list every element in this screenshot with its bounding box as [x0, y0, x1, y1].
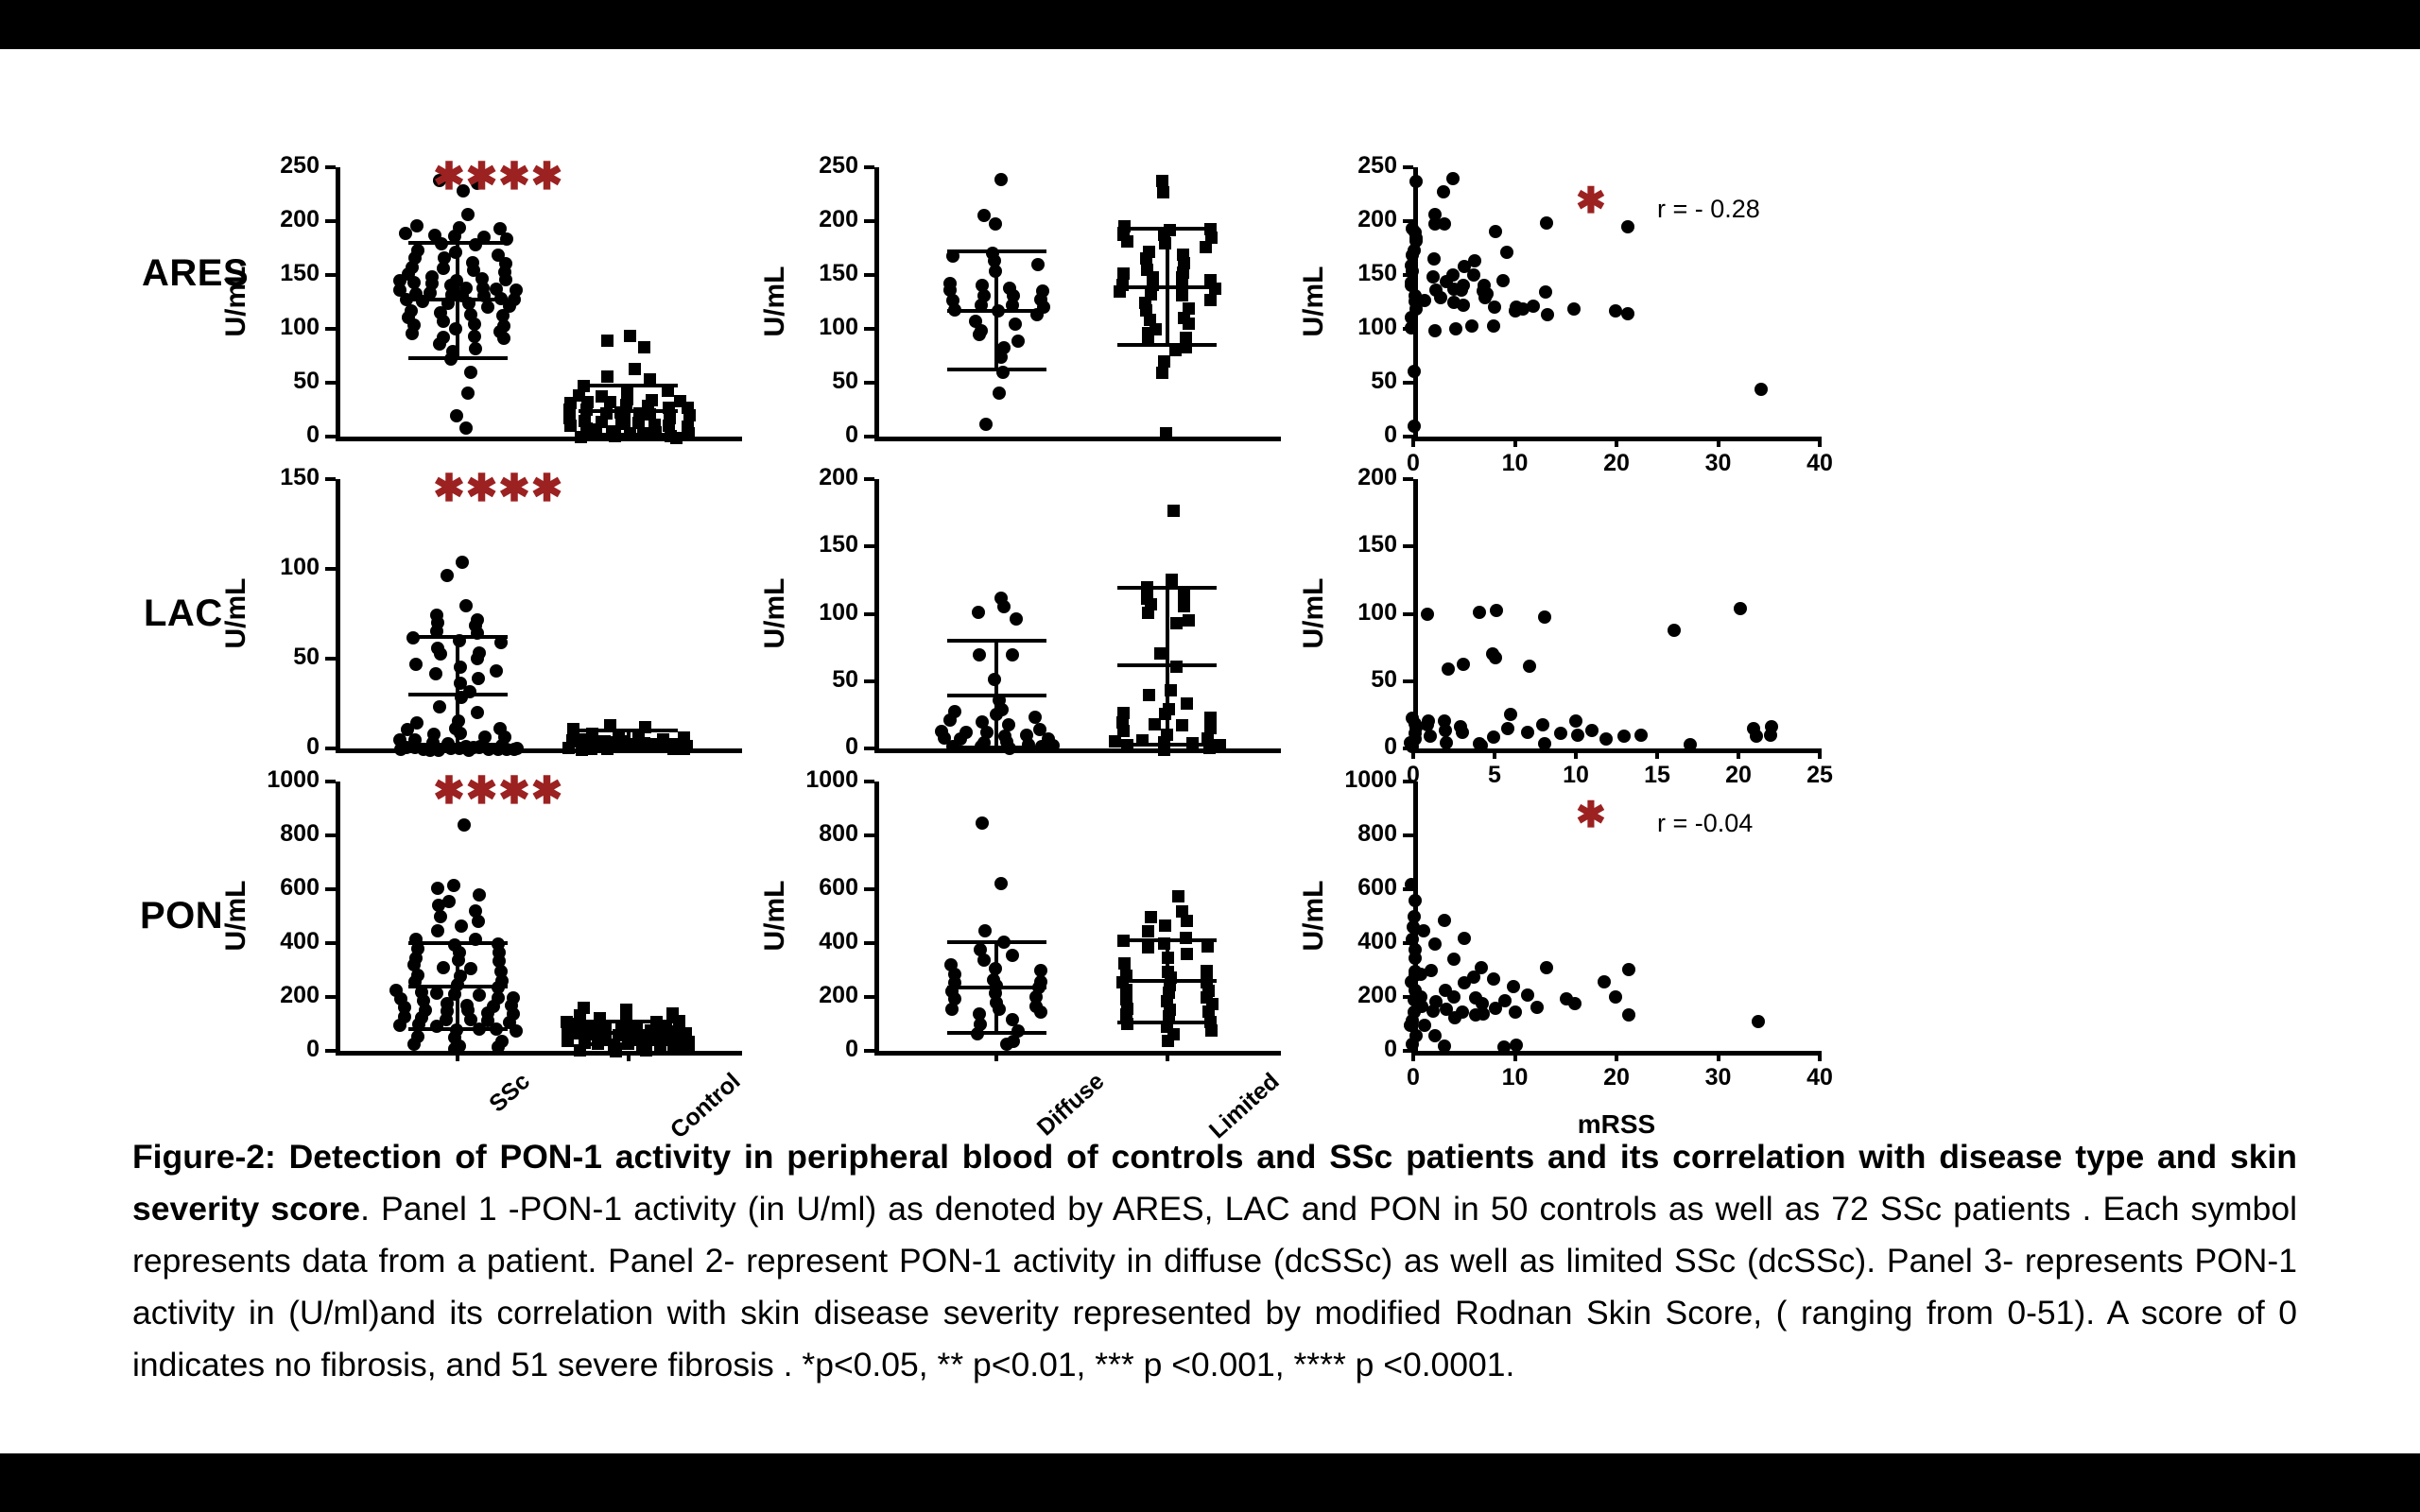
y-tick: [864, 327, 874, 331]
y-tick-label: 200: [775, 466, 858, 490]
panel-ares-ssc-control: 050100150200250U/mL✱✱✱✱: [336, 167, 742, 437]
data-point: [1634, 729, 1648, 742]
data-point: [464, 962, 477, 975]
y-tick-label: 0: [1314, 735, 1397, 759]
data-point: [629, 363, 641, 375]
y-tick-label: 200: [1314, 466, 1397, 490]
panel-ares-mrss: 050100150200250U/mL010203040r = - 0.28✱: [1413, 167, 1820, 437]
x-tick-label: 20: [1579, 1066, 1654, 1090]
y-tick-label: 0: [775, 735, 858, 759]
data-point: [410, 219, 423, 232]
y-axis-title: U/mL: [220, 235, 252, 368]
y-tick: [1403, 833, 1413, 837]
data-point: [1489, 651, 1502, 664]
data-point: [510, 1024, 523, 1038]
data-point: [1449, 322, 1462, 335]
figure-caption: Figure-2: Detection of PON-1 activity in…: [132, 1131, 2297, 1391]
y-tick-label: 0: [236, 735, 320, 759]
data-point: [1428, 1029, 1442, 1042]
data-point: [431, 882, 444, 895]
data-point: [601, 370, 614, 383]
data-point: [1440, 736, 1453, 749]
data-point: [459, 421, 473, 435]
sd-vertical-line: [994, 641, 998, 747]
data-point: [1475, 961, 1488, 974]
row-label-lac: LAC: [144, 593, 223, 635]
x-axis-line: [874, 1051, 1281, 1056]
row-label-pon: PON: [140, 895, 223, 937]
data-point: [973, 648, 986, 661]
y-tick: [864, 544, 874, 548]
data-point: [407, 1038, 421, 1051]
x-tick-label: 30: [1681, 452, 1756, 475]
y-tick: [325, 657, 336, 661]
data-point: [1000, 1038, 1013, 1051]
data-point: [1621, 220, 1634, 233]
data-point: [1426, 270, 1440, 283]
x-category-label: SSc: [484, 1068, 536, 1118]
y-axis-line: [1413, 479, 1418, 751]
x-tick-label: 0: [1375, 1066, 1451, 1090]
data-point: [1428, 937, 1442, 951]
data-point: [1609, 304, 1622, 318]
data-point: [1418, 1019, 1431, 1032]
data-point: [1490, 604, 1503, 617]
data-point: [1523, 660, 1536, 673]
y-axis-line: [874, 167, 879, 439]
y-tick-label: 150: [236, 466, 320, 490]
data-point: [1142, 607, 1154, 619]
data-point: [464, 366, 477, 379]
x-tick: [1513, 1051, 1517, 1061]
sd-vertical-line: [994, 251, 998, 369]
y-tick: [325, 780, 336, 783]
panel-pon-mrss: 02004006008001000U/mL010203040mRSSr = -0…: [1413, 782, 1820, 1051]
y-tick-label: 0: [775, 423, 858, 447]
y-tick: [864, 941, 874, 945]
significance-marker-four: ✱✱✱✱: [433, 470, 563, 507]
data-point: [1031, 258, 1045, 271]
data-point: [1183, 318, 1195, 330]
x-tick: [1717, 1051, 1720, 1061]
data-point: [1668, 624, 1681, 637]
y-tick-label: 250: [1314, 154, 1397, 178]
data-point: [1409, 894, 1422, 907]
data-point: [393, 1019, 406, 1032]
data-point: [1426, 1005, 1440, 1018]
x-category-tick: [627, 1051, 631, 1061]
data-point: [1500, 246, 1513, 259]
data-point: [976, 816, 989, 830]
y-tick-label: 200: [775, 984, 858, 1007]
data-point: [1465, 319, 1478, 333]
y-tick: [864, 435, 874, 438]
data-point: [1504, 708, 1517, 721]
data-point: [461, 387, 475, 400]
y-axis-title: U/mL: [1298, 547, 1330, 679]
data-point: [1011, 335, 1025, 348]
data-point: [1438, 914, 1451, 927]
data-point: [1424, 730, 1437, 743]
data-point: [683, 427, 695, 439]
data-point: [1468, 254, 1481, 267]
y-axis-line: [874, 479, 879, 751]
figure-page: ARES LAC PON 050100150200250U/mL✱✱✱✱0501…: [0, 0, 2420, 1512]
data-point: [1406, 265, 1419, 278]
y-tick-label: 50: [236, 369, 320, 393]
panel-pon-ssc-control: 02004006008001000U/mLSScControl✱✱✱✱: [336, 782, 742, 1051]
x-tick-label: 20: [1579, 452, 1654, 475]
data-point: [1477, 1007, 1490, 1021]
data-point: [993, 387, 1006, 400]
x-axis-line: [874, 437, 1281, 441]
data-point: [1121, 235, 1133, 248]
data-point: [1117, 267, 1130, 280]
panel-lac-mrss: 050100150200U/mL0510152025: [1413, 479, 1820, 748]
data-point: [458, 818, 471, 832]
data-point: [1406, 1038, 1419, 1051]
data-point: [1473, 737, 1486, 750]
y-tick: [1403, 477, 1413, 481]
data-point: [1521, 988, 1534, 1002]
data-point: [562, 742, 575, 754]
x-tick: [1737, 748, 1740, 759]
data-point: [434, 910, 447, 923]
y-tick-label: 0: [1314, 1038, 1397, 1061]
data-point: [683, 1041, 695, 1054]
data-point: [1567, 302, 1581, 316]
data-point: [1527, 300, 1540, 313]
x-tick: [1818, 748, 1822, 759]
data-point: [1178, 600, 1190, 612]
data-point: [1204, 294, 1217, 306]
significance-marker-four: ✱✱✱✱: [433, 772, 563, 810]
data-point: [1118, 957, 1131, 970]
data-point: [1734, 602, 1747, 615]
data-point: [1510, 1039, 1523, 1052]
panel-ares-diffuse-limited: 050100150200250U/mL: [874, 167, 1281, 437]
data-point: [1754, 383, 1768, 396]
data-point: [1496, 274, 1510, 287]
y-tick: [864, 273, 874, 277]
caption-rest: . Panel 1 -PON-1 activity (in U/ml) as d…: [132, 1190, 2297, 1383]
data-point: [610, 1045, 622, 1057]
y-tick-label: 200: [236, 984, 320, 1007]
data-point: [624, 330, 636, 342]
letterbox-bottom: [0, 1453, 2420, 1512]
y-axis-title: U/mL: [759, 547, 791, 679]
y-tick-label: 800: [1314, 822, 1397, 846]
data-point: [1145, 911, 1157, 923]
data-point: [1750, 730, 1763, 743]
data-point: [1181, 915, 1193, 927]
y-tick: [325, 995, 336, 999]
data-point: [1507, 980, 1520, 993]
data-point: [1473, 606, 1486, 619]
y-tick: [325, 567, 336, 571]
y-axis-title: U/mL: [1298, 850, 1330, 982]
x-tick: [1513, 437, 1517, 447]
data-point: [1409, 175, 1423, 188]
data-point: [1538, 737, 1551, 750]
x-tick: [1574, 748, 1578, 759]
y-tick: [325, 833, 336, 837]
y-tick: [325, 381, 336, 385]
data-point: [1162, 1035, 1174, 1047]
y-tick: [1403, 544, 1413, 548]
panel-lac-diffuse-limited: 050100150200U/mL: [874, 479, 1281, 748]
data-point: [989, 217, 1002, 231]
x-category-tick: [456, 1051, 459, 1061]
data-point: [497, 332, 510, 345]
data-point: [1140, 252, 1152, 265]
y-tick-label: 200: [1314, 208, 1397, 232]
data-point: [431, 924, 444, 937]
x-tick: [1818, 437, 1822, 447]
panel-lac-ssc-control: 050100150U/mL✱✱✱✱: [336, 479, 742, 748]
data-point: [459, 599, 473, 612]
y-tick: [1403, 165, 1413, 169]
y-tick: [325, 273, 336, 277]
data-point: [1142, 941, 1154, 954]
x-tick-label: 40: [1782, 452, 1858, 475]
y-tick: [1403, 780, 1413, 783]
data-point: [473, 888, 486, 902]
data-point: [456, 556, 469, 569]
data-point: [678, 743, 690, 755]
data-point: [447, 879, 460, 892]
data-point: [468, 330, 481, 343]
data-point: [1622, 963, 1635, 976]
data-point: [1554, 727, 1567, 740]
data-point: [1181, 697, 1193, 710]
data-point: [1752, 1015, 1765, 1028]
data-point: [979, 418, 993, 431]
data-point: [469, 342, 482, 355]
data-point: [1142, 925, 1154, 937]
data-point: [1156, 175, 1168, 187]
y-tick-label: 250: [236, 154, 320, 178]
y-tick-label: 0: [1314, 423, 1397, 447]
data-point: [1536, 718, 1549, 731]
data-point: [1498, 994, 1512, 1007]
sd-vertical-line: [994, 942, 998, 1034]
data-point: [1501, 722, 1514, 735]
y-tick: [864, 833, 874, 837]
y-tick: [325, 941, 336, 945]
x-tick-label: 40: [1782, 1066, 1858, 1090]
data-point: [620, 1004, 632, 1016]
y-axis-title: U/mL: [759, 850, 791, 982]
data-point: [562, 1035, 574, 1047]
data-point: [1540, 216, 1553, 230]
data-point: [461, 208, 475, 221]
data-point: [471, 652, 484, 665]
data-point: [1438, 217, 1451, 231]
data-point: [1622, 1008, 1635, 1022]
sd-vertical-line: [627, 730, 631, 747]
y-tick: [325, 327, 336, 331]
data-point: [430, 987, 443, 1000]
y-tick: [1403, 679, 1413, 683]
x-category-tick: [994, 1051, 998, 1061]
data-point: [1181, 948, 1193, 960]
data-point: [1521, 726, 1534, 739]
data-point: [450, 409, 463, 422]
data-point: [1149, 718, 1161, 730]
data-point: [1617, 730, 1631, 743]
data-point: [1571, 729, 1584, 742]
data-point: [1418, 294, 1431, 307]
data-point: [1540, 961, 1553, 974]
data-point: [1599, 732, 1613, 746]
data-point: [437, 262, 450, 275]
data-point: [1010, 612, 1023, 626]
x-tick: [1411, 437, 1415, 447]
data-point: [1006, 949, 1019, 962]
data-point: [638, 341, 650, 353]
significance-marker-four: ✱✱✱✱: [433, 158, 563, 196]
y-tick: [864, 747, 874, 750]
data-point: [399, 227, 412, 240]
data-point: [1530, 1001, 1544, 1014]
data-point: [1455, 283, 1468, 297]
y-tick: [325, 477, 336, 481]
data-point: [1538, 610, 1551, 624]
data-point: [1046, 739, 1060, 752]
y-axis-title: U/mL: [759, 235, 791, 368]
data-point: [1159, 919, 1171, 932]
data-point: [472, 672, 485, 685]
data-point: [1158, 355, 1170, 368]
data-point: [492, 1040, 505, 1054]
y-tick: [864, 477, 874, 481]
y-tick-label: 0: [775, 1038, 858, 1061]
y-tick: [864, 1049, 874, 1053]
x-tick: [1818, 1051, 1822, 1061]
data-point: [1143, 689, 1155, 701]
y-tick-label: 800: [236, 822, 320, 846]
data-point: [945, 1003, 959, 1016]
data-point: [564, 420, 577, 432]
y-tick-label: 1000: [775, 768, 858, 792]
data-point: [433, 700, 446, 713]
data-point: [1509, 1005, 1522, 1019]
data-point: [943, 713, 957, 727]
data-point: [1487, 972, 1500, 986]
data-point: [1458, 932, 1471, 945]
y-axis-title: U/mL: [220, 850, 252, 982]
correlation-value: r = - 0.28: [1657, 195, 1760, 224]
significance-marker-one: ✱: [1576, 797, 1607, 834]
x-category-tick: [1166, 1051, 1169, 1061]
data-point: [978, 924, 992, 937]
y-tick: [864, 165, 874, 169]
y-tick: [864, 612, 874, 616]
significance-marker-one: ✱: [1576, 182, 1607, 220]
y-tick-label: 0: [236, 423, 320, 447]
x-tick: [1655, 748, 1659, 759]
y-tick-label: 250: [775, 154, 858, 178]
y-tick: [325, 435, 336, 438]
data-point: [1456, 1005, 1469, 1019]
data-point: [1028, 711, 1042, 724]
y-tick: [325, 747, 336, 750]
y-tick: [325, 219, 336, 223]
x-tick: [1493, 748, 1496, 759]
sd-vertical-line: [1166, 940, 1169, 1022]
y-axis-line: [336, 479, 340, 751]
data-point: [1421, 608, 1434, 621]
data-point: [1439, 724, 1452, 737]
data-point: [473, 988, 486, 1002]
data-point: [973, 328, 986, 341]
data-point: [1156, 367, 1168, 379]
data-point: [1417, 924, 1430, 937]
data-point: [1764, 729, 1777, 742]
figure-sheet: ARES LAC PON 050100150200250U/mL✱✱✱✱0501…: [0, 49, 2420, 1453]
data-point: [429, 667, 442, 680]
data-point: [1488, 301, 1501, 314]
data-point: [997, 600, 1011, 613]
y-tick: [864, 780, 874, 783]
data-point: [1170, 617, 1183, 629]
y-axis-title: U/mL: [1298, 235, 1330, 368]
y-tick-label: 50: [1314, 369, 1397, 393]
data-point: [1447, 953, 1461, 966]
data-point: [1176, 289, 1188, 301]
data-point: [1176, 719, 1188, 731]
sd-vertical-line: [627, 386, 631, 434]
y-tick: [1403, 381, 1413, 385]
y-tick: [325, 1049, 336, 1053]
data-point: [1172, 890, 1184, 902]
data-point: [1409, 952, 1422, 965]
figure-grid: ARES LAC PON 050100150200250U/mL✱✱✱✱0501…: [0, 49, 2420, 1079]
data-point: [1585, 724, 1599, 737]
y-tick: [1403, 612, 1413, 616]
data-point: [1167, 505, 1180, 517]
y-tick-label: 0: [236, 1038, 320, 1061]
data-point: [1541, 308, 1554, 321]
y-tick: [864, 219, 874, 223]
y-tick: [864, 679, 874, 683]
data-point: [972, 606, 985, 619]
data-point: [434, 647, 447, 661]
data-point: [994, 173, 1008, 186]
data-point: [406, 327, 419, 340]
y-tick-label: 200: [775, 208, 858, 232]
data-point: [1489, 225, 1502, 238]
sd-vertical-line: [627, 1022, 631, 1044]
data-point: [994, 877, 1008, 890]
x-tick: [1411, 748, 1415, 759]
data-point: [1183, 614, 1195, 627]
sd-vertical-line: [1166, 229, 1169, 345]
y-tick: [864, 887, 874, 891]
y-axis-line: [874, 782, 879, 1054]
data-point: [1408, 365, 1421, 378]
data-point: [1425, 964, 1438, 977]
data-point: [1157, 186, 1169, 198]
data-point: [1447, 990, 1461, 1004]
x-axis-line: [1413, 748, 1820, 753]
y-tick: [325, 165, 336, 169]
data-point: [455, 919, 468, 933]
data-point: [1442, 662, 1455, 676]
data-point: [1446, 268, 1460, 282]
x-tick: [1717, 437, 1720, 447]
